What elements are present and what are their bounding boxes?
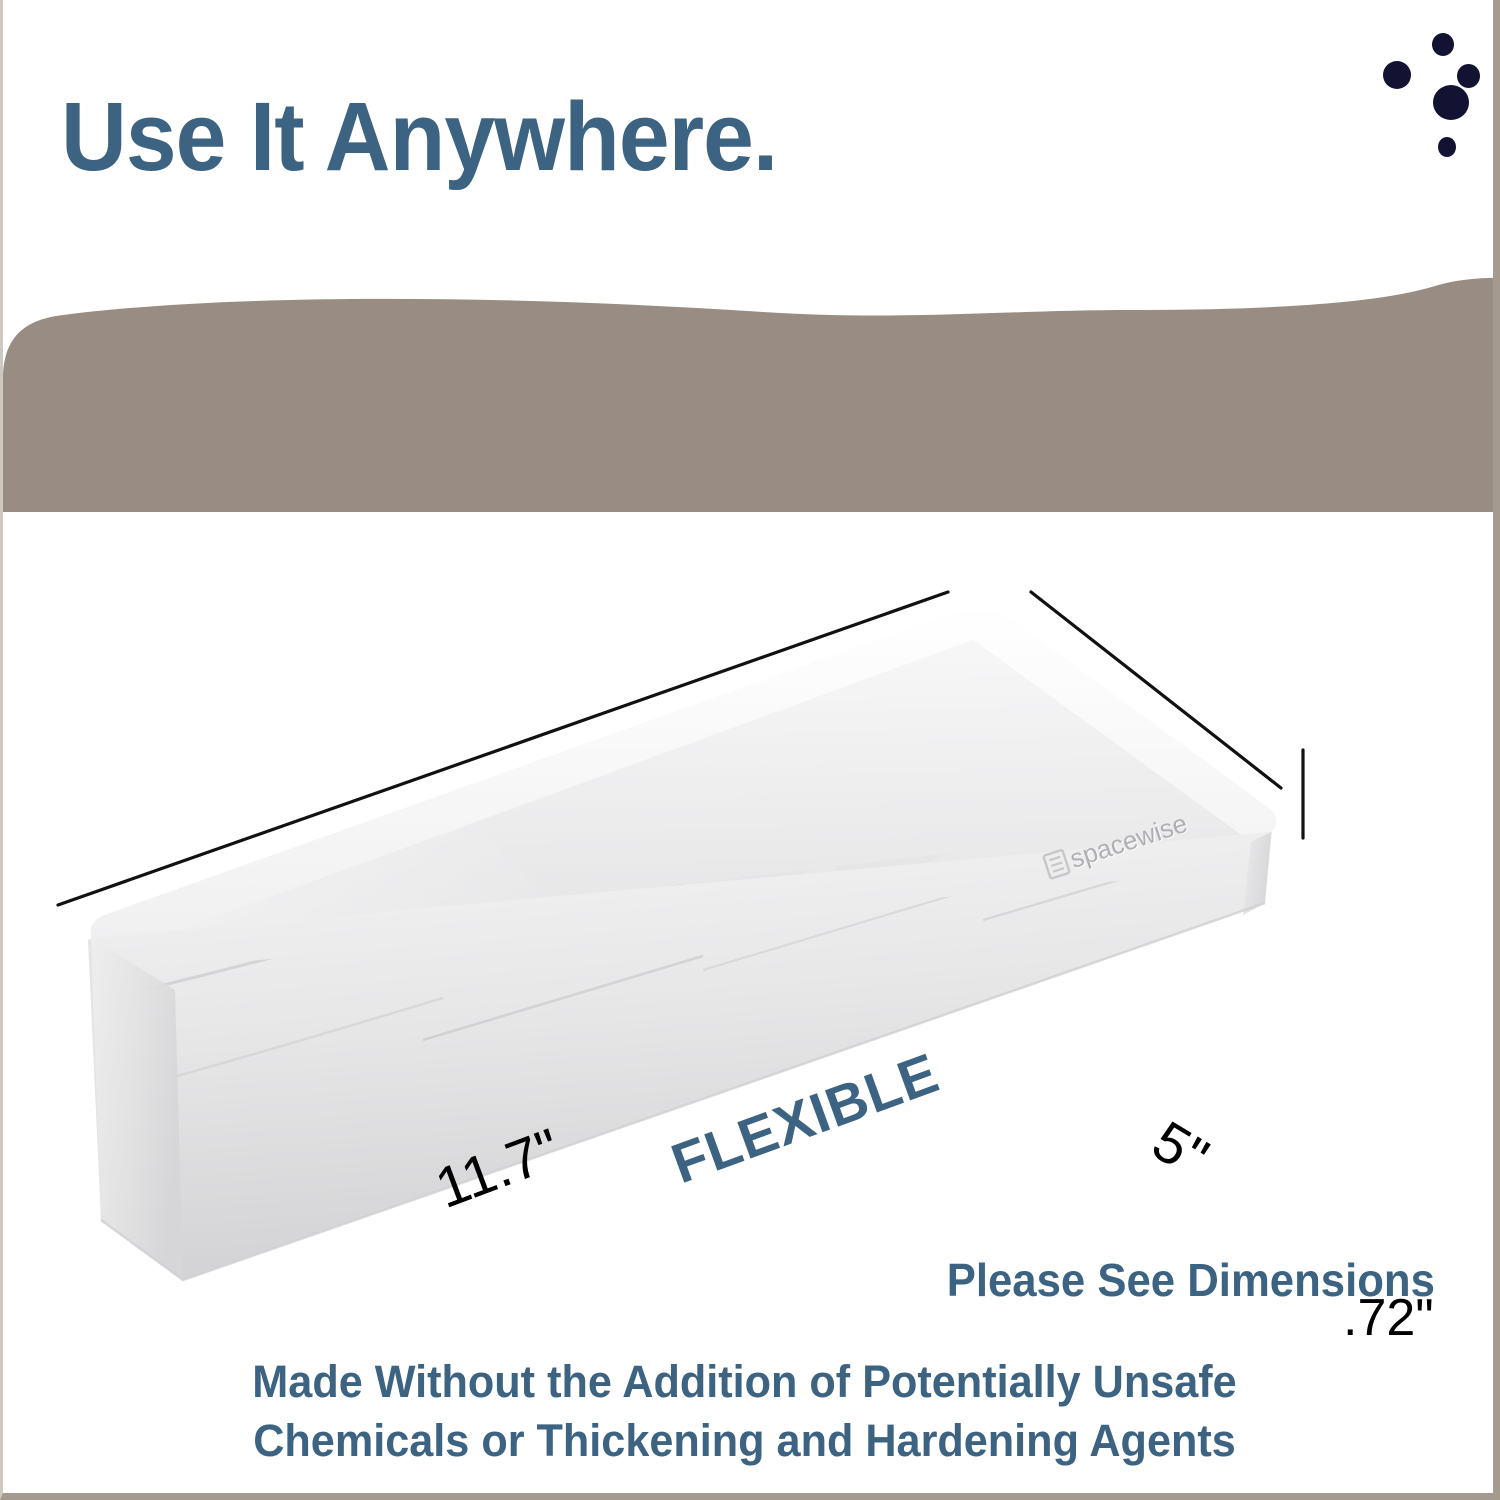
subtitle-banner: The Flexible Silicone Tray For Wet or Dr… [3,270,1500,520]
decoration-dot [1457,64,1480,88]
decoration-dot [1433,85,1469,120]
product-infographic: Use It Anywhere. The Flexible Silicone T… [0,0,1500,1500]
decoration-dot [1438,137,1456,157]
safety-disclaimer: Made Without the Addition of Potentially… [3,1352,1486,1471]
decoration-dot [1383,61,1411,89]
decoration-dot [1432,33,1454,56]
product-image: spacewise spacewise 11.7" 5" .72" [3,520,1500,1310]
disclaimer-line-1: Made Without the Addition of Potentially… [33,1352,1457,1411]
disclaimer-line-2: Chemicals or Thickening and Hardening Ag… [33,1411,1457,1470]
see-dimensions-note: Please See Dimensions [947,1253,1435,1307]
dot-cluster-decoration [1358,28,1488,153]
tray-illustration: spacewise spacewise [3,520,1500,1310]
page-headline: Use It Anywhere. [61,86,777,188]
banner-shape [3,270,1500,520]
